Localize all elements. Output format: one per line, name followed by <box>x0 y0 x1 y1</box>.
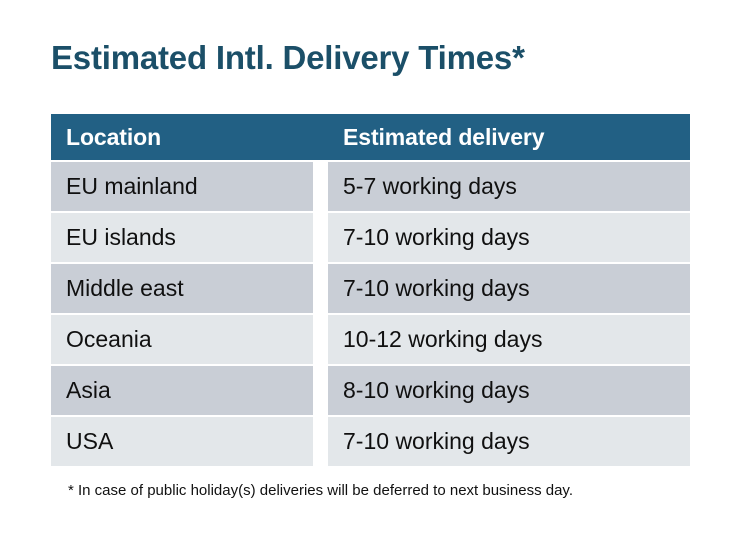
table-row: EU mainland 5-7 working days <box>51 160 690 211</box>
table-row: Oceania 10-12 working days <box>51 313 690 364</box>
column-header-location: Location <box>51 114 313 160</box>
table-row: EU islands 7-10 working days <box>51 211 690 262</box>
footnote: * In case of public holiday(s) deliverie… <box>68 480 573 502</box>
row-gap-spacer <box>313 262 328 313</box>
cell-delivery: 5-7 working days <box>328 160 690 211</box>
cell-delivery: 8-10 working days <box>328 364 690 415</box>
cell-delivery: 10-12 working days <box>328 313 690 364</box>
table-row: USA 7-10 working days <box>51 415 690 466</box>
cell-location: Asia <box>51 364 313 415</box>
cell-location: USA <box>51 415 313 466</box>
row-gap-spacer <box>313 364 328 415</box>
row-gap-spacer <box>313 313 328 364</box>
row-gap-spacer <box>313 211 328 262</box>
cell-location: Oceania <box>51 313 313 364</box>
table-row: Middle east 7-10 working days <box>51 262 690 313</box>
table-row: Asia 8-10 working days <box>51 364 690 415</box>
table-header-row: Location Estimated delivery <box>51 114 690 160</box>
delivery-times-page: Estimated Intl. Delivery Times* Location… <box>0 0 745 536</box>
row-gap-spacer <box>313 160 328 211</box>
row-gap-spacer <box>313 415 328 466</box>
table-body: EU mainland 5-7 working days EU islands … <box>51 160 690 466</box>
cell-location: EU mainland <box>51 160 313 211</box>
column-gap-spacer <box>313 114 328 160</box>
cell-delivery: 7-10 working days <box>328 211 690 262</box>
column-header-delivery: Estimated delivery <box>328 114 690 160</box>
table-header: Location Estimated delivery <box>51 114 690 160</box>
delivery-times-table: Location Estimated delivery EU mainland … <box>51 114 690 466</box>
cell-location: Middle east <box>51 262 313 313</box>
cell-location: EU islands <box>51 211 313 262</box>
page-title: Estimated Intl. Delivery Times* <box>51 36 525 80</box>
cell-delivery: 7-10 working days <box>328 262 690 313</box>
cell-delivery: 7-10 working days <box>328 415 690 466</box>
